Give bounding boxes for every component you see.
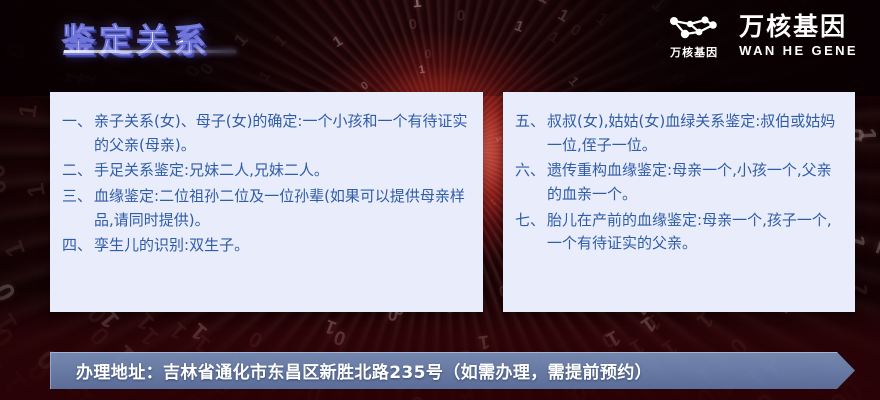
brand-wordmark: 万核基因 WAN HE GENE xyxy=(739,13,858,60)
slide-root: 0111100101101111011111010111110111011110… xyxy=(0,0,880,400)
list-item-number: 二、 xyxy=(62,159,94,183)
page-title: 鉴定关系 xyxy=(62,14,210,62)
brand-mark-caption: 万核基因 xyxy=(670,44,718,60)
brand-name-cn: 万核基因 xyxy=(739,13,847,42)
list-item: 五、叔叔(女),姑姑(女)血绿关系鉴定:叔伯或姑妈一位,侄子一位。 xyxy=(515,110,841,157)
list-item-text: 手足关系鉴定:兄妹二人,兄妹二人。 xyxy=(94,159,469,183)
list-item-text: 血缘鉴定:二位祖孙二位及一位孙辈(如果可以提供母亲样品,请同时提供)。 xyxy=(94,185,469,232)
list-item-text: 亲子关系(女)、母子(女)的确定:一个小孩和一个有待证实的父亲(母亲)。 xyxy=(94,110,469,157)
brand-mark: 万核基因 xyxy=(665,12,723,60)
content-panel-right: 五、叔叔(女),姑姑(女)血绿关系鉴定:叔伯或姑妈一位,侄子一位。六、遗传重构血… xyxy=(503,92,855,312)
brand-logo: 万核基因 万核基因 WAN HE GENE xyxy=(665,12,858,60)
list-item: 七、胎儿在产前的血缘鉴定:母亲一个,孩子一个,一个有待证实的父亲。 xyxy=(515,209,841,256)
address-bar: 办理地址：吉林省通化市东昌区新胜北路235号（如需办理，需提前预约） xyxy=(50,352,855,389)
list-item-number: 一、 xyxy=(62,110,94,134)
relation-list-left: 一、亲子关系(女)、母子(女)的确定:一个小孩和一个有待证实的父亲(母亲)。二、… xyxy=(50,92,483,270)
list-item-number: 四、 xyxy=(62,234,94,258)
list-item-number: 五、 xyxy=(515,110,547,134)
list-item-number: 三、 xyxy=(62,185,94,209)
title-underline xyxy=(64,50,236,53)
content-panel-left: 一、亲子关系(女)、母子(女)的确定:一个小孩和一个有待证实的父亲(母亲)。二、… xyxy=(50,92,483,312)
list-item-number: 六、 xyxy=(515,159,547,183)
list-item: 六、遗传重构血缘鉴定:母亲一个,小孩一个,父亲的血亲一个。 xyxy=(515,159,841,206)
list-item-number: 七、 xyxy=(515,209,547,233)
list-item: 四、孪生儿的识别:双生子。 xyxy=(62,234,469,258)
relation-list-right: 五、叔叔(女),姑姑(女)血绿关系鉴定:叔伯或姑妈一位,侄子一位。六、遗传重构血… xyxy=(503,92,855,268)
list-item: 二、手足关系鉴定:兄妹二人,兄妹二人。 xyxy=(62,159,469,183)
list-item-text: 叔叔(女),姑姑(女)血绿关系鉴定:叔伯或姑妈一位,侄子一位。 xyxy=(547,110,841,157)
list-item: 三、血缘鉴定:二位祖孙二位及一位孙辈(如果可以提供母亲样品,请同时提供)。 xyxy=(62,185,469,232)
list-item-text: 胎儿在产前的血缘鉴定:母亲一个,孩子一个,一个有待证实的父亲。 xyxy=(547,209,841,256)
brand-name-en: WAN HE GENE xyxy=(739,44,858,59)
address-text: 办理地址：吉林省通化市东昌区新胜北路235号（如需办理，需提前预约） xyxy=(76,352,652,389)
list-item-text: 遗传重构血缘鉴定:母亲一个,小孩一个,父亲的血亲一个。 xyxy=(547,159,841,206)
molecule-node-icon xyxy=(665,12,723,42)
list-item: 一、亲子关系(女)、母子(女)的确定:一个小孩和一个有待证实的父亲(母亲)。 xyxy=(62,110,469,157)
list-item-text: 孪生儿的识别:双生子。 xyxy=(94,234,469,258)
